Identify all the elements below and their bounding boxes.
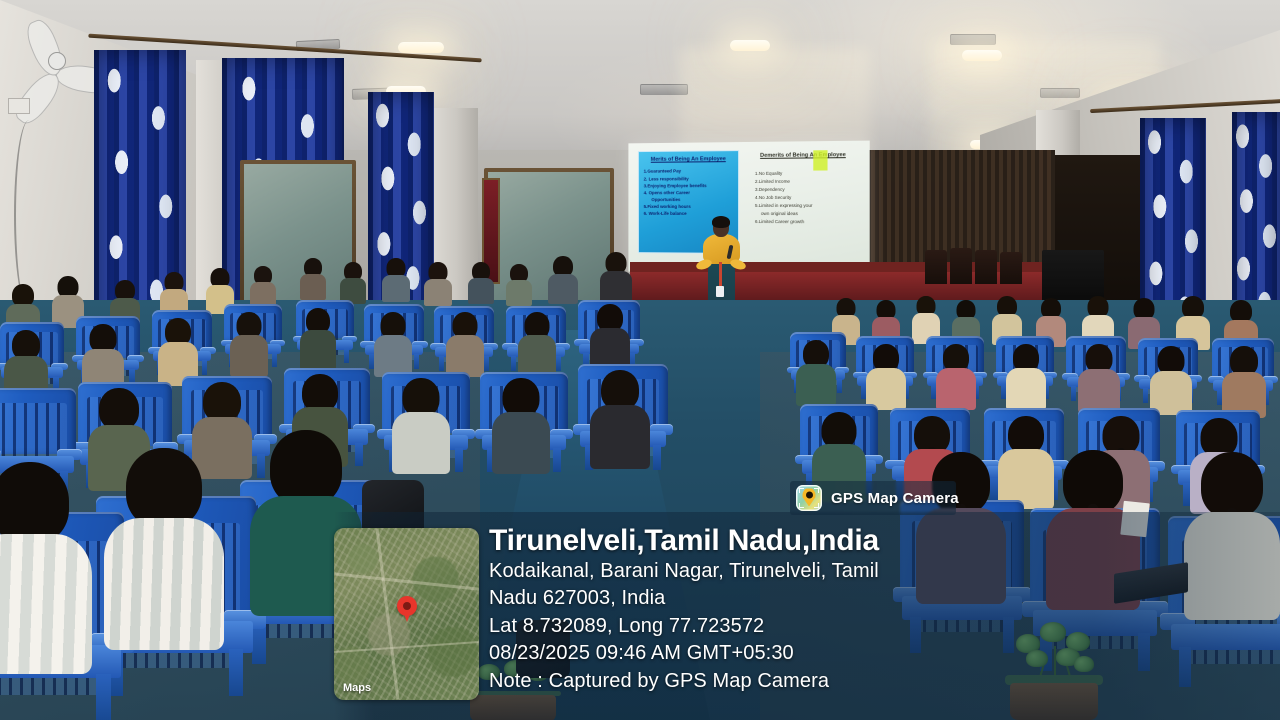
audience-member xyxy=(518,312,556,372)
slide-right-item: 6.Limited Career growth xyxy=(755,218,859,226)
slide-right-item: own original ideas xyxy=(755,210,859,218)
background-chair xyxy=(975,250,997,284)
audience-member xyxy=(382,258,410,300)
slide-right-title: Demerits of Being An Employee xyxy=(745,151,861,161)
slide-right-list: 1.No Equality 2.Limited Income 3.Depende… xyxy=(745,159,861,226)
slide-right-panel: Demerits of Being An Employee 1.No Equal… xyxy=(745,151,861,226)
address-line-1: Kodaikanal, Barani Nagar, Tirunelveli, T… xyxy=(489,558,1049,586)
audience-member xyxy=(1222,346,1266,412)
audience-member xyxy=(340,262,366,302)
ceiling-light xyxy=(962,50,1002,61)
slide-right-item: 4.No Job Security xyxy=(755,194,859,202)
projector-screen: Merits of Being An Employee 1.Guaranteed… xyxy=(628,141,869,275)
audience-member xyxy=(590,304,630,368)
map-attribution: Maps xyxy=(341,682,371,694)
audience-member xyxy=(250,266,276,308)
audience-member xyxy=(424,262,452,304)
ceiling-vent xyxy=(640,84,688,95)
ceiling-vent xyxy=(950,34,996,45)
audience-member xyxy=(548,256,578,302)
audience-member xyxy=(1150,346,1192,410)
wall-wire xyxy=(14,120,44,310)
audience-member xyxy=(230,312,268,372)
audience-member-foreground xyxy=(1184,452,1280,608)
audience-member xyxy=(600,252,632,302)
audience-member xyxy=(1006,344,1046,406)
gps-pin-icon xyxy=(796,485,822,511)
wall-switch[interactable] xyxy=(8,98,30,114)
address-line-2: Nadu 627003, India xyxy=(489,585,1049,613)
audience-member xyxy=(1078,344,1120,408)
background-chair xyxy=(1000,252,1022,284)
map-attribution-label: Maps xyxy=(343,682,371,694)
audience-member xyxy=(796,340,836,402)
audience-member xyxy=(158,318,198,380)
audience-member xyxy=(468,262,494,302)
audience-member xyxy=(392,378,450,470)
map-road xyxy=(334,641,479,653)
audience-member-foreground xyxy=(104,448,224,648)
paper-handout xyxy=(1120,501,1149,538)
background-chair xyxy=(950,248,972,284)
audience-member xyxy=(374,312,412,372)
ceiling-light xyxy=(730,40,770,51)
audience-member xyxy=(300,308,336,366)
ceiling-light xyxy=(398,42,444,53)
audience-member-foreground xyxy=(0,462,92,672)
location-pin-icon xyxy=(397,596,417,622)
map-road xyxy=(376,528,400,699)
slide-left-list: 1.Guaranteed Pay 2. Less responsibility … xyxy=(639,165,738,217)
slide-right-item: 3.Dependency xyxy=(755,186,859,194)
audience-member xyxy=(936,344,976,406)
audience-member xyxy=(300,258,326,298)
id-badge xyxy=(716,286,724,297)
timestamp: 08/23/2025 09:46 AM GMT+05:30 xyxy=(489,640,1049,668)
background-chair xyxy=(925,250,947,284)
map-road xyxy=(334,572,479,590)
highlight-marker xyxy=(813,150,827,170)
slide-left-item: Opportunities xyxy=(644,196,735,203)
map-thumbnail[interactable]: Maps xyxy=(334,528,479,700)
audience-member xyxy=(506,264,532,304)
audience-member xyxy=(82,324,124,390)
gps-info-block: Tirunelveli,Tamil Nadu,India Kodaikanal,… xyxy=(489,524,1049,696)
audience-member xyxy=(866,344,906,406)
audience-member xyxy=(446,312,484,372)
gps-map-camera-photo: Merits of Being An Employee 1.Guaranteed… xyxy=(0,0,1280,720)
slide-left-title: Merits of Being An Employee xyxy=(639,151,738,166)
location-title: Tirunelveli,Tamil Nadu,India xyxy=(489,524,1049,558)
gps-app-badge: GPS Map Camera xyxy=(790,481,956,515)
slide-right-item: 5.Limited in expressing your xyxy=(755,202,859,210)
ceiling-vent xyxy=(1040,88,1080,98)
slide-left-item: 5.Fixed working hours xyxy=(644,203,735,210)
capture-note: Note : Captured by GPS Map Camera xyxy=(489,668,1049,696)
audience-member xyxy=(590,370,650,466)
coordinates: Lat 8.732089, Long 77.723572 xyxy=(489,613,1049,641)
audience-member xyxy=(492,378,550,470)
gps-app-name: GPS Map Camera xyxy=(831,490,959,507)
